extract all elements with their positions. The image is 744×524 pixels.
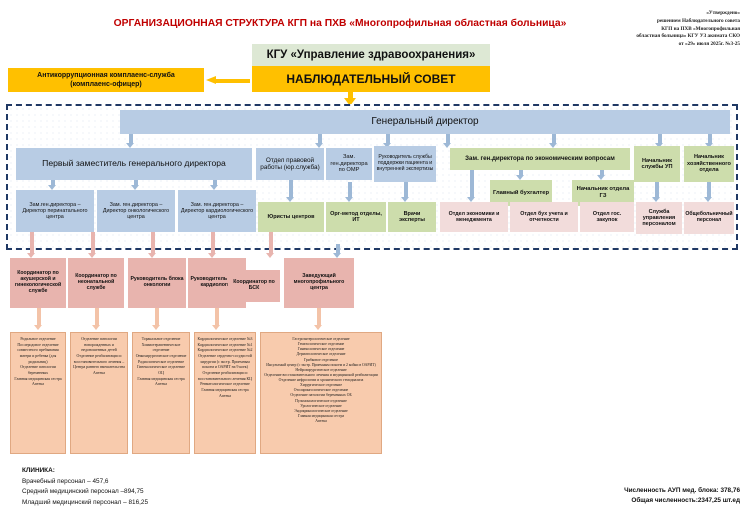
arrow-down-icon <box>210 180 219 190</box>
approval-block: «Утверждено» решением Наблюдательного со… <box>586 10 740 49</box>
arrow-down-icon <box>88 232 97 258</box>
department-item: Отделение патологии беременных <box>13 365 63 376</box>
department-item: Отделение реабилитации и восстановительн… <box>73 354 125 371</box>
approval-line-1: «Утверждено» <box>586 10 740 18</box>
node-deputy-director-oncology-center[interactable]: Зам. ген.директора – Директор онкологиче… <box>97 190 175 232</box>
node-center-lawyers[interactable]: Юристы центров <box>258 202 324 232</box>
approval-line-4: областная больница» КГУ УЗ акимата СКО <box>586 33 740 41</box>
department-list-multiprofile[interactable]: Гастроэнтерологическое отделениеГематоло… <box>260 332 382 454</box>
node-head-oncology-block[interactable]: Руководитель блока онкологии <box>128 258 186 308</box>
arrow-down-icon <box>401 182 410 202</box>
clinic-summary-header: КЛИНИКА: <box>22 466 322 477</box>
department-list-perinatal-neonatal[interactable]: Отделение патологии новорожденных и недо… <box>70 332 128 454</box>
arrow-down-icon <box>148 232 157 258</box>
node-deputy-director-perinatal-center[interactable]: Зам.ген.директора – Директор перинатальн… <box>16 190 94 232</box>
clinic-line-mid-staff: Средний медицинский персонал –894,75 <box>22 487 322 498</box>
department-item: Отделение реабилитации и восстановительн… <box>197 371 253 382</box>
approval-line-5: от «29» июля 2025г. №3-25 <box>586 41 740 49</box>
anticorruption-label-line2: (комплаенс-офицер) <box>70 80 142 89</box>
node-accounting-reporting-department[interactable]: Отдел бух учета и отчетности <box>510 202 578 232</box>
department-item: Инсультный центр (с экстр. Приемным поко… <box>263 363 379 368</box>
total-line-overall: Общая численность:2347,25 шт.ед <box>500 496 740 506</box>
arrow-down-icon <box>333 244 342 258</box>
arrow-down-icon <box>48 180 57 190</box>
arrow-down-icon <box>345 182 354 202</box>
node-deputy-director-economics[interactable]: Зам. ген.директора по экономическим вопр… <box>450 148 630 170</box>
department-item: Главная медицинская сестра <box>197 388 253 394</box>
department-item: Аптека <box>13 382 63 388</box>
department-list-perinatal-obstetrics[interactable]: Родильное отделениеПослеродовое отделени… <box>10 332 66 454</box>
node-deputy-director-cardiology-center[interactable]: Зам. ген.директора – Директор кардиологи… <box>178 190 256 232</box>
total-headcount-summary: Численность АУП мед. блока: 378,76 Общая… <box>500 486 740 507</box>
arrow-down-icon <box>314 308 323 330</box>
department-item: Послеродовое отделение совместного пребы… <box>13 343 63 366</box>
department-item: Отделение сердечно-сосудистой хирургии (… <box>197 354 253 371</box>
node-patient-support-head[interactable]: Руководитель службы поддержки пациента и… <box>374 146 436 182</box>
arrow-down-icon <box>126 134 135 148</box>
arrow-down-icon <box>92 308 101 330</box>
arrow-down-icon <box>516 170 525 180</box>
arrow-down-icon <box>443 134 452 148</box>
department-item: Аптека <box>135 382 187 388</box>
arrow-down-icon <box>208 232 217 258</box>
arrow-down-icon <box>286 180 295 202</box>
node-coordinator-neonatal-service[interactable]: Координатор по неонатальной службе <box>68 258 124 308</box>
node-first-deputy-general-director[interactable]: Первый заместитель генерального директор… <box>16 148 252 180</box>
department-item: Аптека <box>263 419 379 424</box>
node-general-hospital-staff[interactable]: Общебольничный персонал <box>684 202 734 234</box>
anticorruption-label-line1: Антикоррупционная комплаенс-служба <box>37 71 175 80</box>
department-item: Аптека <box>197 394 253 400</box>
arrow-down-icon <box>152 308 161 330</box>
department-item: Торакальное отделение <box>135 337 187 343</box>
clinic-staff-summary: КЛИНИКА: Врачебный персонал – 457,6 Сред… <box>22 466 322 508</box>
total-line-aup: Численность АУП мед. блока: 378,76 <box>500 486 740 496</box>
arrow-down-icon <box>212 308 221 330</box>
node-expert-doctors[interactable]: Врачи эксперты <box>388 202 436 232</box>
arrow-down-icon <box>467 170 476 202</box>
node-economics-management-department[interactable]: Отдел экономики и менеджмента <box>440 202 508 232</box>
arrow-down-icon <box>315 134 324 148</box>
department-item: Кардиологическое отделение №3 <box>197 337 253 343</box>
node-org-method-departments-it[interactable]: Орг-метод отделы, ИТ <box>326 202 386 232</box>
arrow-down-icon <box>266 232 275 258</box>
arrow-down-icon <box>131 180 140 190</box>
node-general-director[interactable]: Генеральный директор <box>120 110 730 134</box>
node-state-procurement-department[interactable]: Отдел гос. закупок <box>580 202 634 232</box>
clinic-line-junior-staff: Младший медицинский персонал – 816,25 <box>22 498 322 509</box>
arrow-down-icon <box>34 308 43 330</box>
department-item: Отделение патологии новорожденных и недо… <box>73 337 125 354</box>
node-kgu-health-department[interactable]: КГУ «Управление здравоохранения» <box>252 44 490 66</box>
node-anticorruption-compliance-service[interactable]: Антикоррупционная комплаенс-служба (комп… <box>8 68 204 92</box>
node-hr-management-service[interactable]: Служба управления персоналом <box>636 202 682 234</box>
department-item: Родильное отделение <box>13 337 63 343</box>
approval-line-2: решением Наблюдательного совета <box>586 18 740 26</box>
node-coordinator-obstetrics-gynecology[interactable]: Координатор по акушерской и гинекологиче… <box>10 258 66 308</box>
department-list-oncology[interactable]: Торакальное отделениеХимиотерапевтическо… <box>132 332 190 454</box>
arrow-down-icon <box>597 170 606 180</box>
page-title: ОРГАНИЗАЦИОННАЯ СТРУКТУРА КГП на ПХВ «Мн… <box>60 18 620 31</box>
arrow-down-icon <box>652 182 661 202</box>
node-supervisory-council[interactable]: НАБЛЮДАТЕЛЬНЫЙ СОВЕТ <box>252 66 490 92</box>
node-head-multiprofile-center[interactable]: Заведующий многопрофильного центра <box>284 258 354 308</box>
department-item: Гинекологическое отделение ОЦ <box>135 365 187 376</box>
arrow-down-icon <box>27 232 36 258</box>
node-head-hr-service[interactable]: Начальник службы УП <box>634 146 680 182</box>
clinic-line-doctors: Врачебный персонал – 457,6 <box>22 477 322 488</box>
department-item: Онкохирургическое отделение <box>135 354 187 360</box>
node-head-economic-department[interactable]: Начальник хозяйственного отдела <box>684 146 734 182</box>
department-list-cardiology[interactable]: Кардиологическое отделение №3Кардиологич… <box>194 332 256 454</box>
node-coordinator-bsk[interactable]: Координатор по БСК <box>228 270 280 302</box>
arrow-down-icon <box>549 134 558 148</box>
node-legal-department[interactable]: Отдел правовой работы (юр.служба) <box>256 148 324 180</box>
arrow-left-icon <box>206 76 250 84</box>
node-deputy-director-omr[interactable]: Зам. ген.директора по ОМР <box>326 148 372 180</box>
department-item: Аптека <box>73 371 125 377</box>
department-item: Химиотерапевтическое отделение <box>135 343 187 354</box>
arrow-down-icon <box>704 182 713 202</box>
